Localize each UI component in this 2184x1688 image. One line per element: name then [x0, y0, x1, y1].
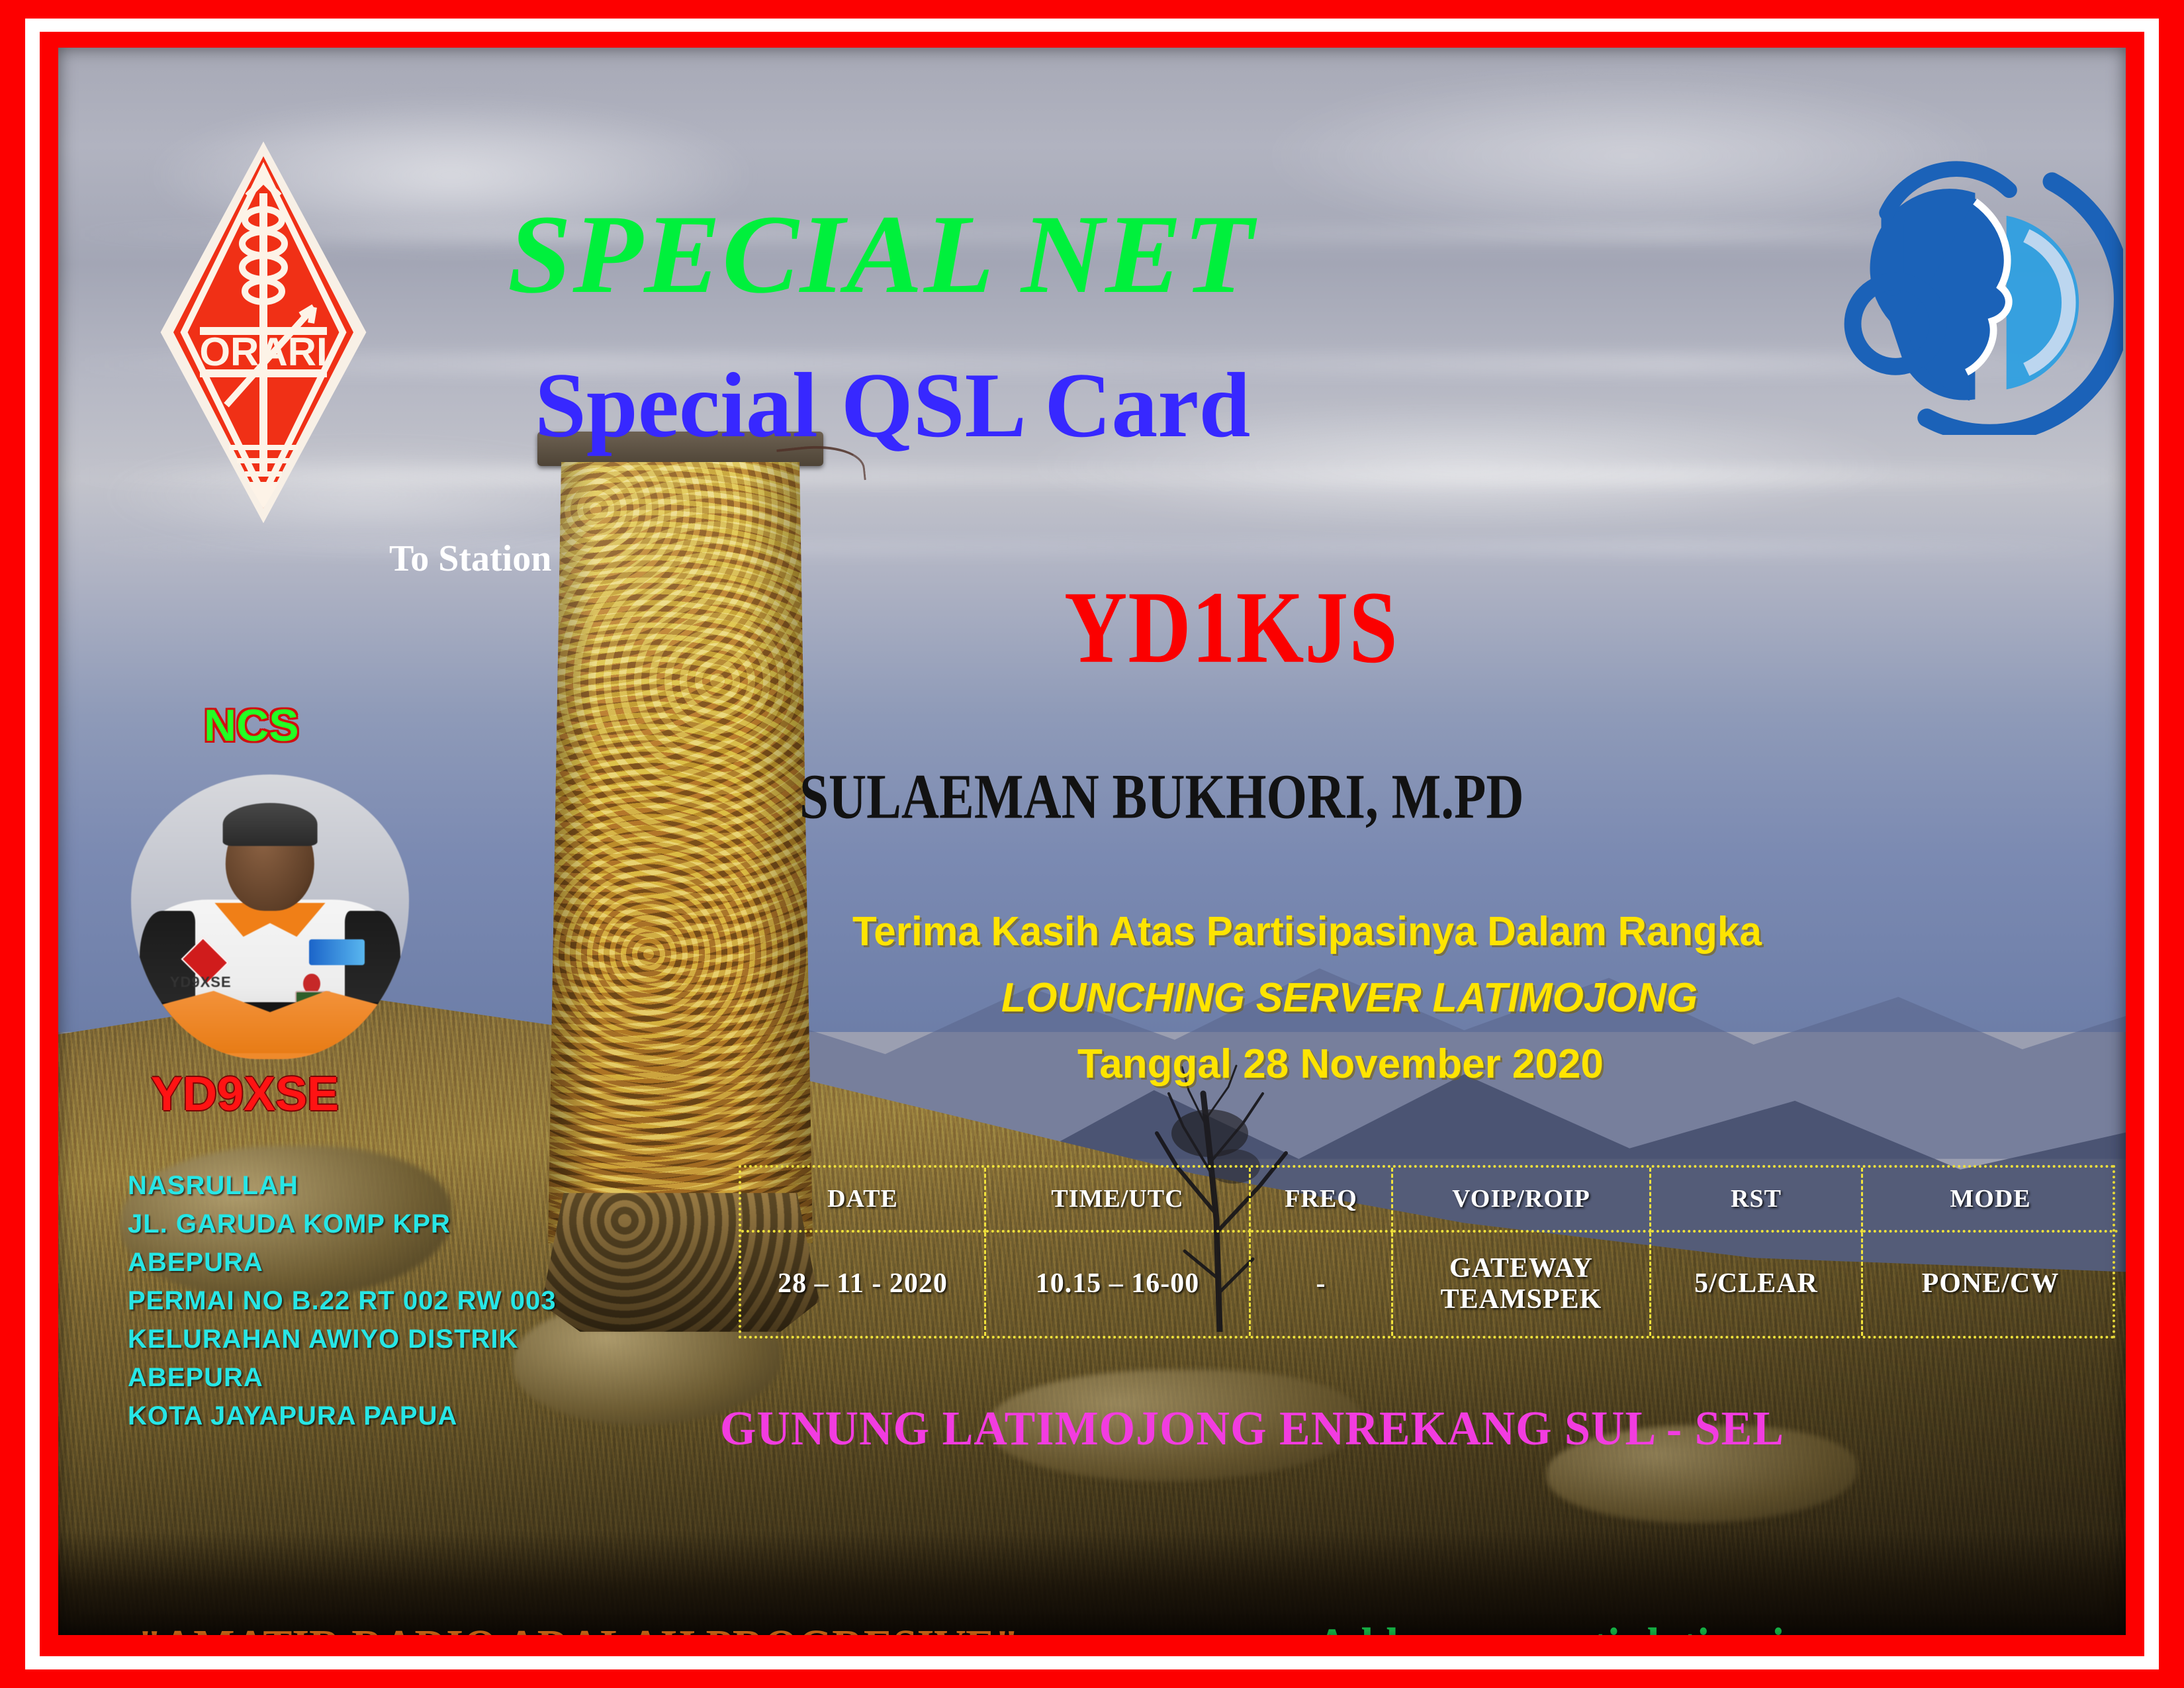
voip-line-2: TEAMSPEK — [1441, 1284, 1602, 1315]
ncs-label: NCS — [204, 700, 299, 751]
recipient-callsign: YD1KJS — [1064, 567, 1398, 687]
card-title: SPECIAL NET — [508, 190, 1255, 319]
operator-name: SULAEMAN BUKHORI, M.PD — [799, 759, 1524, 833]
ncs-operator-photo: YD9XSE — [131, 774, 409, 1059]
event-date-line: Tanggal 28 November 2020 — [1077, 1041, 1604, 1088]
footer-motto: "AMATIR RADIO ADALAH PROGRESIVE" — [138, 1620, 1019, 1635]
event-line: LOUNCHING SERVER LATIMOJONG — [1001, 974, 1698, 1021]
table-value-rst: 5/CLEAR — [1651, 1233, 1863, 1336]
table-header-time: TIME/UTC — [986, 1168, 1251, 1233]
table-value-freq: - — [1251, 1233, 1393, 1336]
table-value-date: 28 – 11 - 2020 — [741, 1233, 986, 1336]
address-line: ABEPURA — [128, 1243, 556, 1282]
card-photo-background: ORARI — [58, 48, 2126, 1635]
footer-web-address: Address : amatir.latimojong.com — [1316, 1617, 1946, 1635]
table-value-time: 10.15 – 16-00 — [986, 1233, 1251, 1336]
card-subtitle: Special QSL Card — [535, 352, 1250, 459]
photo-shirt-callsign: YD9XSE — [170, 974, 232, 991]
thanks-line: Terima Kasih Atas Partisipasinya Dalam R… — [852, 908, 1762, 955]
table-value-mode: PONE/CW — [1863, 1233, 2118, 1336]
address-line: JL. GARUDA KOMP KPR — [128, 1205, 556, 1243]
table-header-mode: MODE — [1863, 1168, 2118, 1233]
address-line: KOTA JAYAPURA PAPUA — [128, 1397, 556, 1435]
table-header-freq: FREQ — [1251, 1168, 1393, 1233]
photo-badge-right — [309, 939, 365, 965]
pillar-shaft — [548, 462, 813, 1243]
table-header-date: DATE — [741, 1168, 986, 1233]
orari-logo-text: ORARI — [199, 330, 327, 374]
location-line: GUNUNG LATIMOJONG ENREKANG SUL - SEL — [720, 1401, 1784, 1457]
address-line: ABEPURA — [128, 1358, 556, 1397]
ncs-callsign: YD9XSE — [151, 1067, 339, 1121]
headset-profile-logo — [1839, 150, 2123, 435]
address-line: NASRULLAH — [128, 1166, 556, 1205]
to-station-label: To Station — [389, 538, 551, 580]
table-header-voip-roip: VOIP/ROIP — [1393, 1168, 1651, 1233]
table-header-rst: RST — [1651, 1168, 1863, 1233]
voip-line-1: GATEWAY — [1449, 1253, 1593, 1284]
photo-hair — [223, 803, 318, 846]
qso-details-table: DATE TIME/UTC FREQ VOIP/ROIP RST MODE 28… — [739, 1165, 2115, 1338]
table-value-voip-roip: GATEWAY TEAMSPEK — [1393, 1233, 1651, 1336]
address-block: NASRULLAH JL. GARUDA KOMP KPR ABEPURA PE… — [128, 1166, 556, 1435]
address-line: PERMAI NO B.22 RT 002 RW 003 — [128, 1282, 556, 1320]
orari-logo: ORARI — [158, 140, 369, 524]
address-line: KELURAHAN AWIYO DISTRIK — [128, 1320, 556, 1358]
qsl-card: ORARI — [0, 0, 2184, 1688]
